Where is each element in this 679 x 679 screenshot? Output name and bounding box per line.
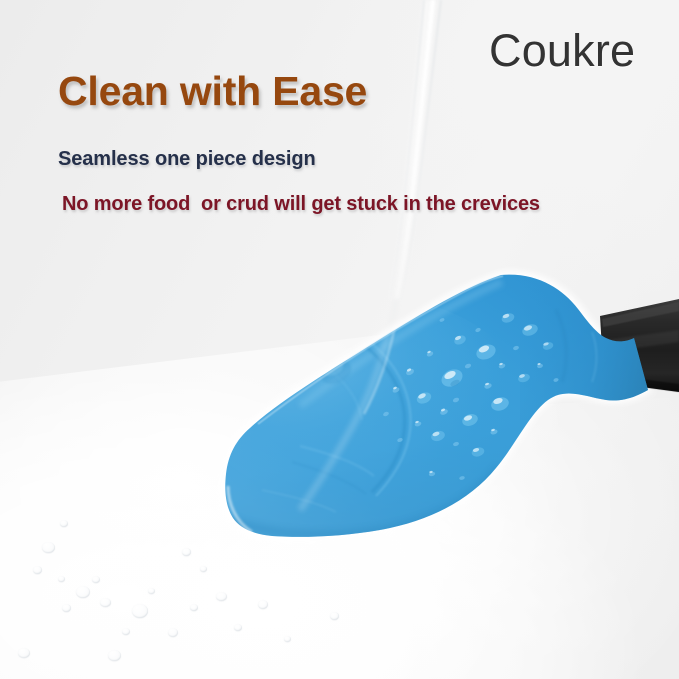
water-drop-icon [182, 548, 191, 556]
water-drop-icon [190, 604, 198, 611]
brand-logo-text: Coukre [489, 25, 635, 77]
water-drop-icon [200, 566, 207, 572]
subheadline-2-text: No more food or crud will get stuck in t… [62, 193, 540, 216]
water-drop-icon [92, 576, 100, 583]
water-drop-icon [108, 650, 121, 661]
water-drop-icon [58, 576, 65, 582]
water-drop-icon [234, 624, 242, 631]
water-drop-icon [60, 520, 68, 527]
water-drop-icon [168, 628, 178, 637]
water-drop-icon [122, 628, 130, 635]
water-drop-icon [330, 612, 339, 620]
water-drop-icon [76, 586, 90, 598]
subheadline-2-gap [190, 193, 201, 215]
water-drop-icon [42, 542, 55, 553]
water-drop-icon [258, 600, 268, 609]
subheadline-2-part-2: or crud will get stuck in the crevices [201, 193, 540, 215]
headline-text: Clean with Ease [58, 68, 367, 115]
water-drop-icon [62, 604, 71, 612]
water-drop-icon [33, 566, 42, 574]
subheadline-2-part-1: No more food [62, 193, 190, 215]
water-drop-icon [100, 598, 111, 607]
subheadline-1-text: Seamless one piece design [58, 148, 316, 171]
water-drop-icon [18, 648, 30, 658]
product-marketing-image: Coukre Clean with Ease Seamless one piec… [0, 0, 679, 679]
water-drop-icon [148, 588, 155, 594]
water-drop-icon [216, 592, 227, 601]
water-drop-icon [132, 604, 148, 618]
water-drop-icon [284, 636, 291, 642]
